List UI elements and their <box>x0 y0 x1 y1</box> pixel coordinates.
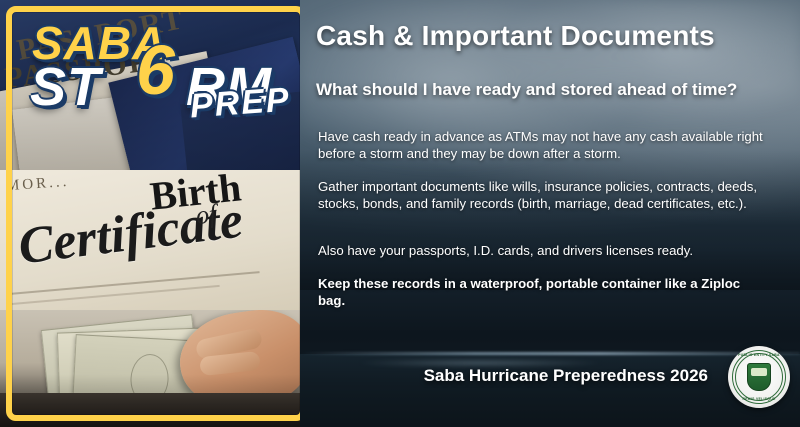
certificate-top-text: MOR... <box>5 174 69 195</box>
content-column: Cash & Important Documents What should I… <box>316 0 800 427</box>
passport-photo-shade <box>0 0 300 170</box>
paragraph-ids: Also have your passports, I.D. cards, an… <box>318 242 770 259</box>
seal-top-text: PUBLIC ENTITY SABA <box>728 353 790 357</box>
cash-wallet-photo <box>0 310 300 427</box>
saba-government-seal-icon: PUBLIC ENTITY SABA REMIS VELISQUE <box>728 346 790 408</box>
campaign-footer: Saba Hurricane Preperedness 2026 <box>316 366 708 386</box>
paragraph-documents: Gather important documents like wills, i… <box>318 178 770 212</box>
poster: PASSPORT PASSPORT MOR... Certificate of … <box>0 0 800 427</box>
birth-certificate-photo: MOR... Certificate of Birth <box>0 170 300 310</box>
certificate-rule-2 <box>10 285 219 305</box>
seal-bottom-text: REMIS VELISQUE <box>728 397 790 401</box>
page-subtitle: What should I have ready and stored ahea… <box>316 80 790 100</box>
money-photo-shade <box>0 310 300 427</box>
photo-column: PASSPORT PASSPORT MOR... Certificate of … <box>0 0 300 427</box>
seal-shield-icon <box>747 363 771 391</box>
page-title: Cash & Important Documents <box>316 20 790 52</box>
passport-photo: PASSPORT PASSPORT <box>0 0 300 170</box>
paragraph-storage-tip: Keep these records in a waterproof, port… <box>318 275 770 309</box>
paragraph-cash: Have cash ready in advance as ATMs may n… <box>318 128 770 162</box>
